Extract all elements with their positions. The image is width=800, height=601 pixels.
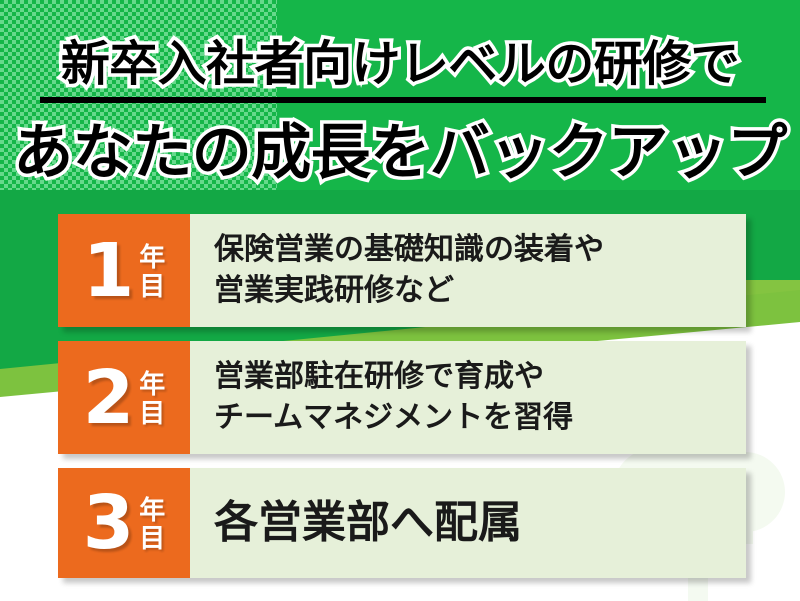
year-number-2: 2 [83, 361, 135, 435]
slide-canvas: 新卒入社者向けレベルの研修で あなたの成長をバックアップ 1 年 目 保険営業の… [0, 0, 800, 601]
year-suffix-3: 年 目 [139, 497, 165, 553]
year-number-1: 1 [83, 234, 135, 308]
year-suffix-2: 年 目 [139, 371, 165, 427]
year-row-1-line-1: 保険営業の基礎知識の装着や [214, 230, 746, 271]
year-badge-3: 3 年 目 [58, 468, 190, 578]
year-suffix-1: 年 目 [139, 244, 165, 300]
year-suffix-bottom-2: 目 [139, 400, 165, 428]
year-suffix-bottom-1: 目 [139, 273, 165, 301]
year-row-1-line-2: 営業実践研修など [214, 271, 746, 312]
year-row-2-line-1: 営業部駐在研修で育成や [214, 357, 746, 398]
year-row-body-3: 各営業部へ配属 [190, 468, 746, 578]
year-number-3: 3 [83, 486, 135, 560]
year-row-2: 2 年 目 営業部駐在研修で育成や チームマネジメントを習得 [58, 341, 746, 454]
year-rows-list: 1 年 目 保険営業の基礎知識の装着や 営業実践研修など 2 年 目 営業部駐 [0, 0, 800, 601]
year-row-2-line-2: チームマネジメントを習得 [214, 398, 746, 439]
year-badge-1: 1 年 目 [58, 214, 190, 327]
year-row-body-2: 営業部駐在研修で育成や チームマネジメントを習得 [190, 341, 746, 454]
year-suffix-top-1: 年 [139, 244, 165, 272]
year-row-1: 1 年 目 保険営業の基礎知識の装着や 営業実践研修など [58, 214, 746, 327]
year-row-body-1: 保険営業の基礎知識の装着や 営業実践研修など [190, 214, 746, 327]
year-row-3-line-1: 各営業部へ配属 [214, 499, 746, 547]
year-badge-2: 2 年 目 [58, 341, 190, 454]
year-row-3: 3 年 目 各営業部へ配属 [58, 468, 746, 578]
year-suffix-bottom-3: 目 [139, 525, 165, 553]
year-suffix-top-3: 年 [139, 497, 165, 525]
year-suffix-top-2: 年 [139, 371, 165, 399]
